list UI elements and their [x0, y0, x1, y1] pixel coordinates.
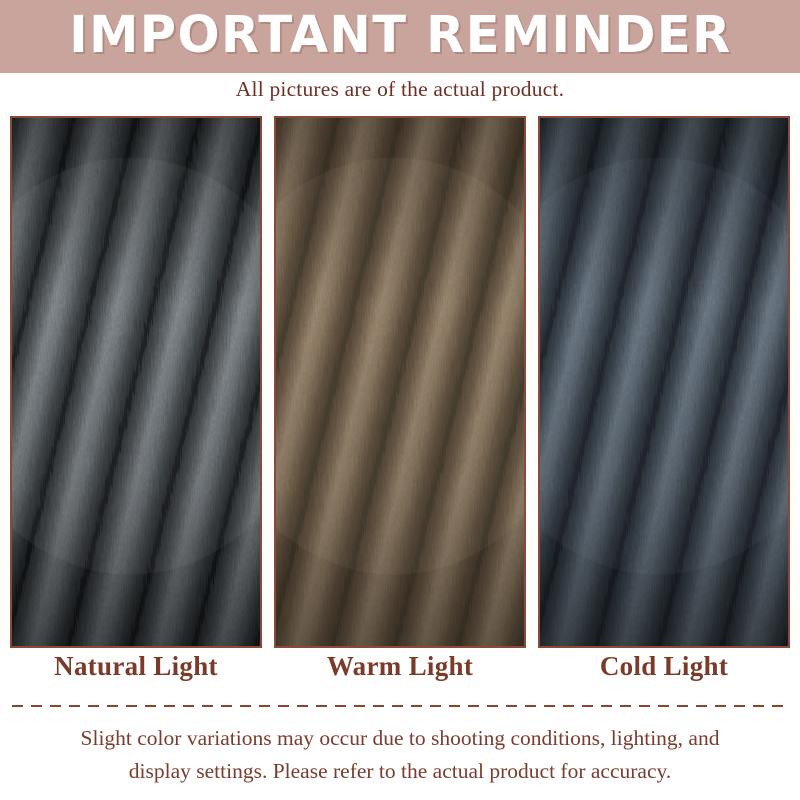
fabric-texture-natural: [12, 118, 260, 646]
panel-row: [10, 116, 790, 648]
fabric-texture-cold: [540, 118, 788, 646]
footer-disclaimer: Slight color variations may occur due to…: [24, 722, 776, 787]
product-photo-natural-light: [10, 116, 262, 648]
reminder-infographic: IMPORTANT REMINDER All pictures are of t…: [0, 0, 800, 800]
caption-warm-light: Warm Light: [274, 652, 526, 694]
fabric-texture-warm: [276, 118, 524, 646]
product-photo-cold-light: [538, 116, 790, 648]
caption-row: Natural Light Warm Light Cold Light: [10, 652, 790, 694]
caption-natural-light: Natural Light: [10, 652, 262, 694]
subtitle-text: All pictures are of the actual product.: [0, 77, 800, 102]
page-title: IMPORTANT REMINDER: [69, 10, 731, 61]
dashed-divider: [12, 705, 788, 707]
footer-line-1: Slight color variations may occur due to…: [24, 722, 776, 755]
header-banner: IMPORTANT REMINDER: [0, 0, 800, 73]
caption-cold-light: Cold Light: [538, 652, 790, 694]
product-photo-warm-light: [274, 116, 526, 648]
footer-line-2: display settings. Please refer to the ac…: [24, 755, 776, 788]
